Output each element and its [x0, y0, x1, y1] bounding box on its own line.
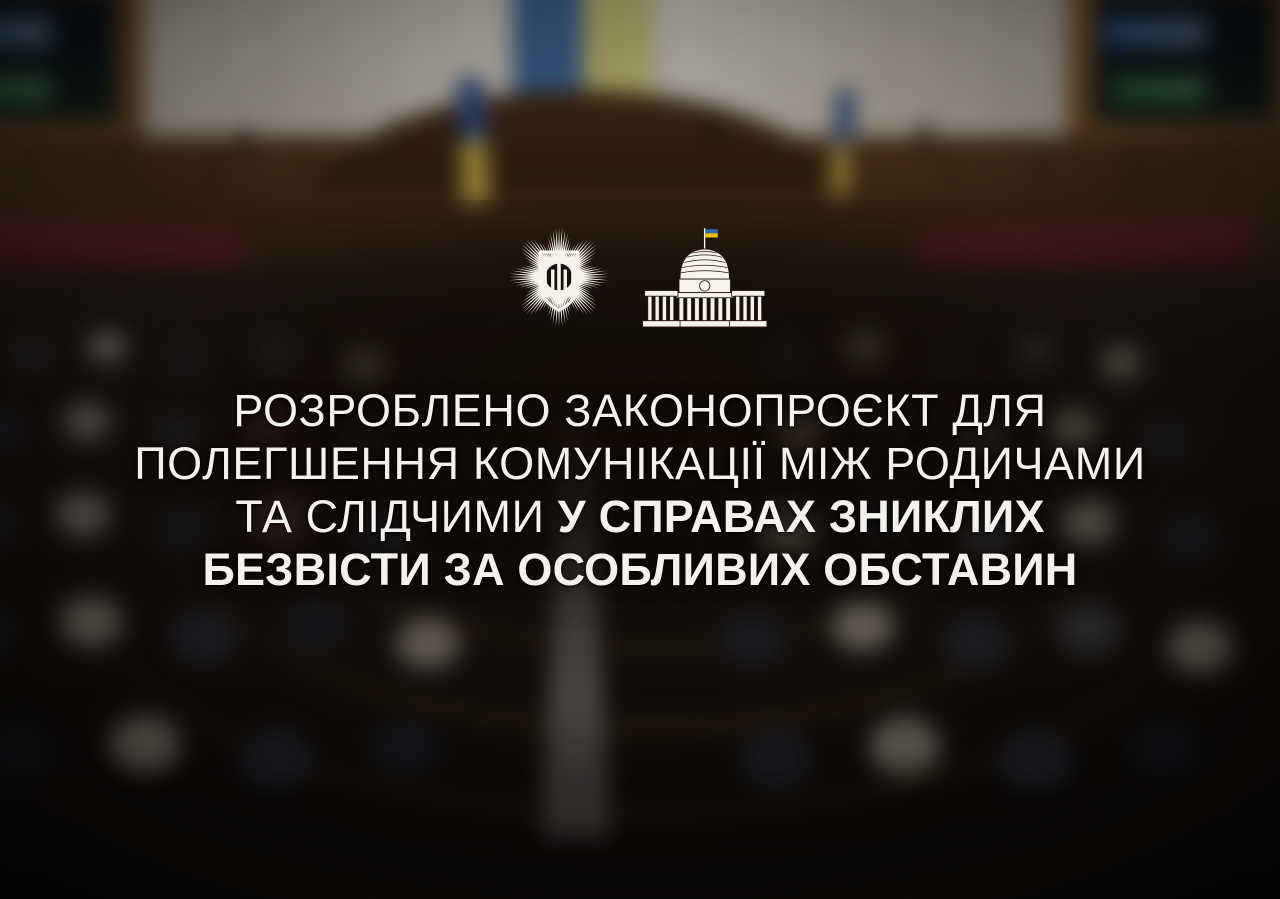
- verkhovna-rada-building-icon: [637, 225, 773, 329]
- headline-line-1-light: РОЗРОБЛЕНО ЗАКОНОПРОЄКТ ДЛЯ: [233, 385, 1046, 436]
- headline-line-2-light: ПОЛЕГШЕННЯ КОМУНІКАЦІЇ МІЖ РОДИЧАМИ: [134, 438, 1146, 489]
- announcement-card: РОЗРОБЛЕНО ЗАКОНОПРОЄКТ ДЛЯ ПОЛЕГШЕННЯ К…: [0, 0, 1280, 899]
- headline-line-1: РОЗРОБЛЕНО ЗАКОНОПРОЄКТ ДЛЯ: [50, 384, 1230, 437]
- headline: РОЗРОБЛЕНО ЗАКОНОПРОЄКТ ДЛЯ ПОЛЕГШЕННЯ К…: [50, 384, 1230, 596]
- headline-line-3-light: ТА СЛІДЧИМИ: [235, 491, 557, 542]
- headline-line-4: БЕЗВІСТИ ЗА ОСОБЛИВИХ ОБСТАВИН: [50, 543, 1230, 596]
- headline-line-2: ПОЛЕГШЕННЯ КОМУНІКАЦІЇ МІЖ РОДИЧАМИ: [50, 437, 1230, 490]
- headline-line-3: ТА СЛІДЧИМИ У СПРАВАХ ЗНИКЛИХ: [50, 490, 1230, 543]
- headline-line-3-bold: У СПРАВАХ ЗНИКЛИХ: [558, 491, 1045, 542]
- headline-line-4-bold: БЕЗВІСТИ ЗА ОСОБЛИВИХ ОБСТАВИН: [203, 544, 1078, 595]
- card-content: РОЗРОБЛЕНО ЗАКОНОПРОЄКТ ДЛЯ ПОЛЕГШЕННЯ К…: [0, 0, 1280, 899]
- building-flag-icon: [704, 228, 718, 249]
- logo-group: [507, 222, 773, 332]
- mvs-emblem-icon: [507, 225, 611, 329]
